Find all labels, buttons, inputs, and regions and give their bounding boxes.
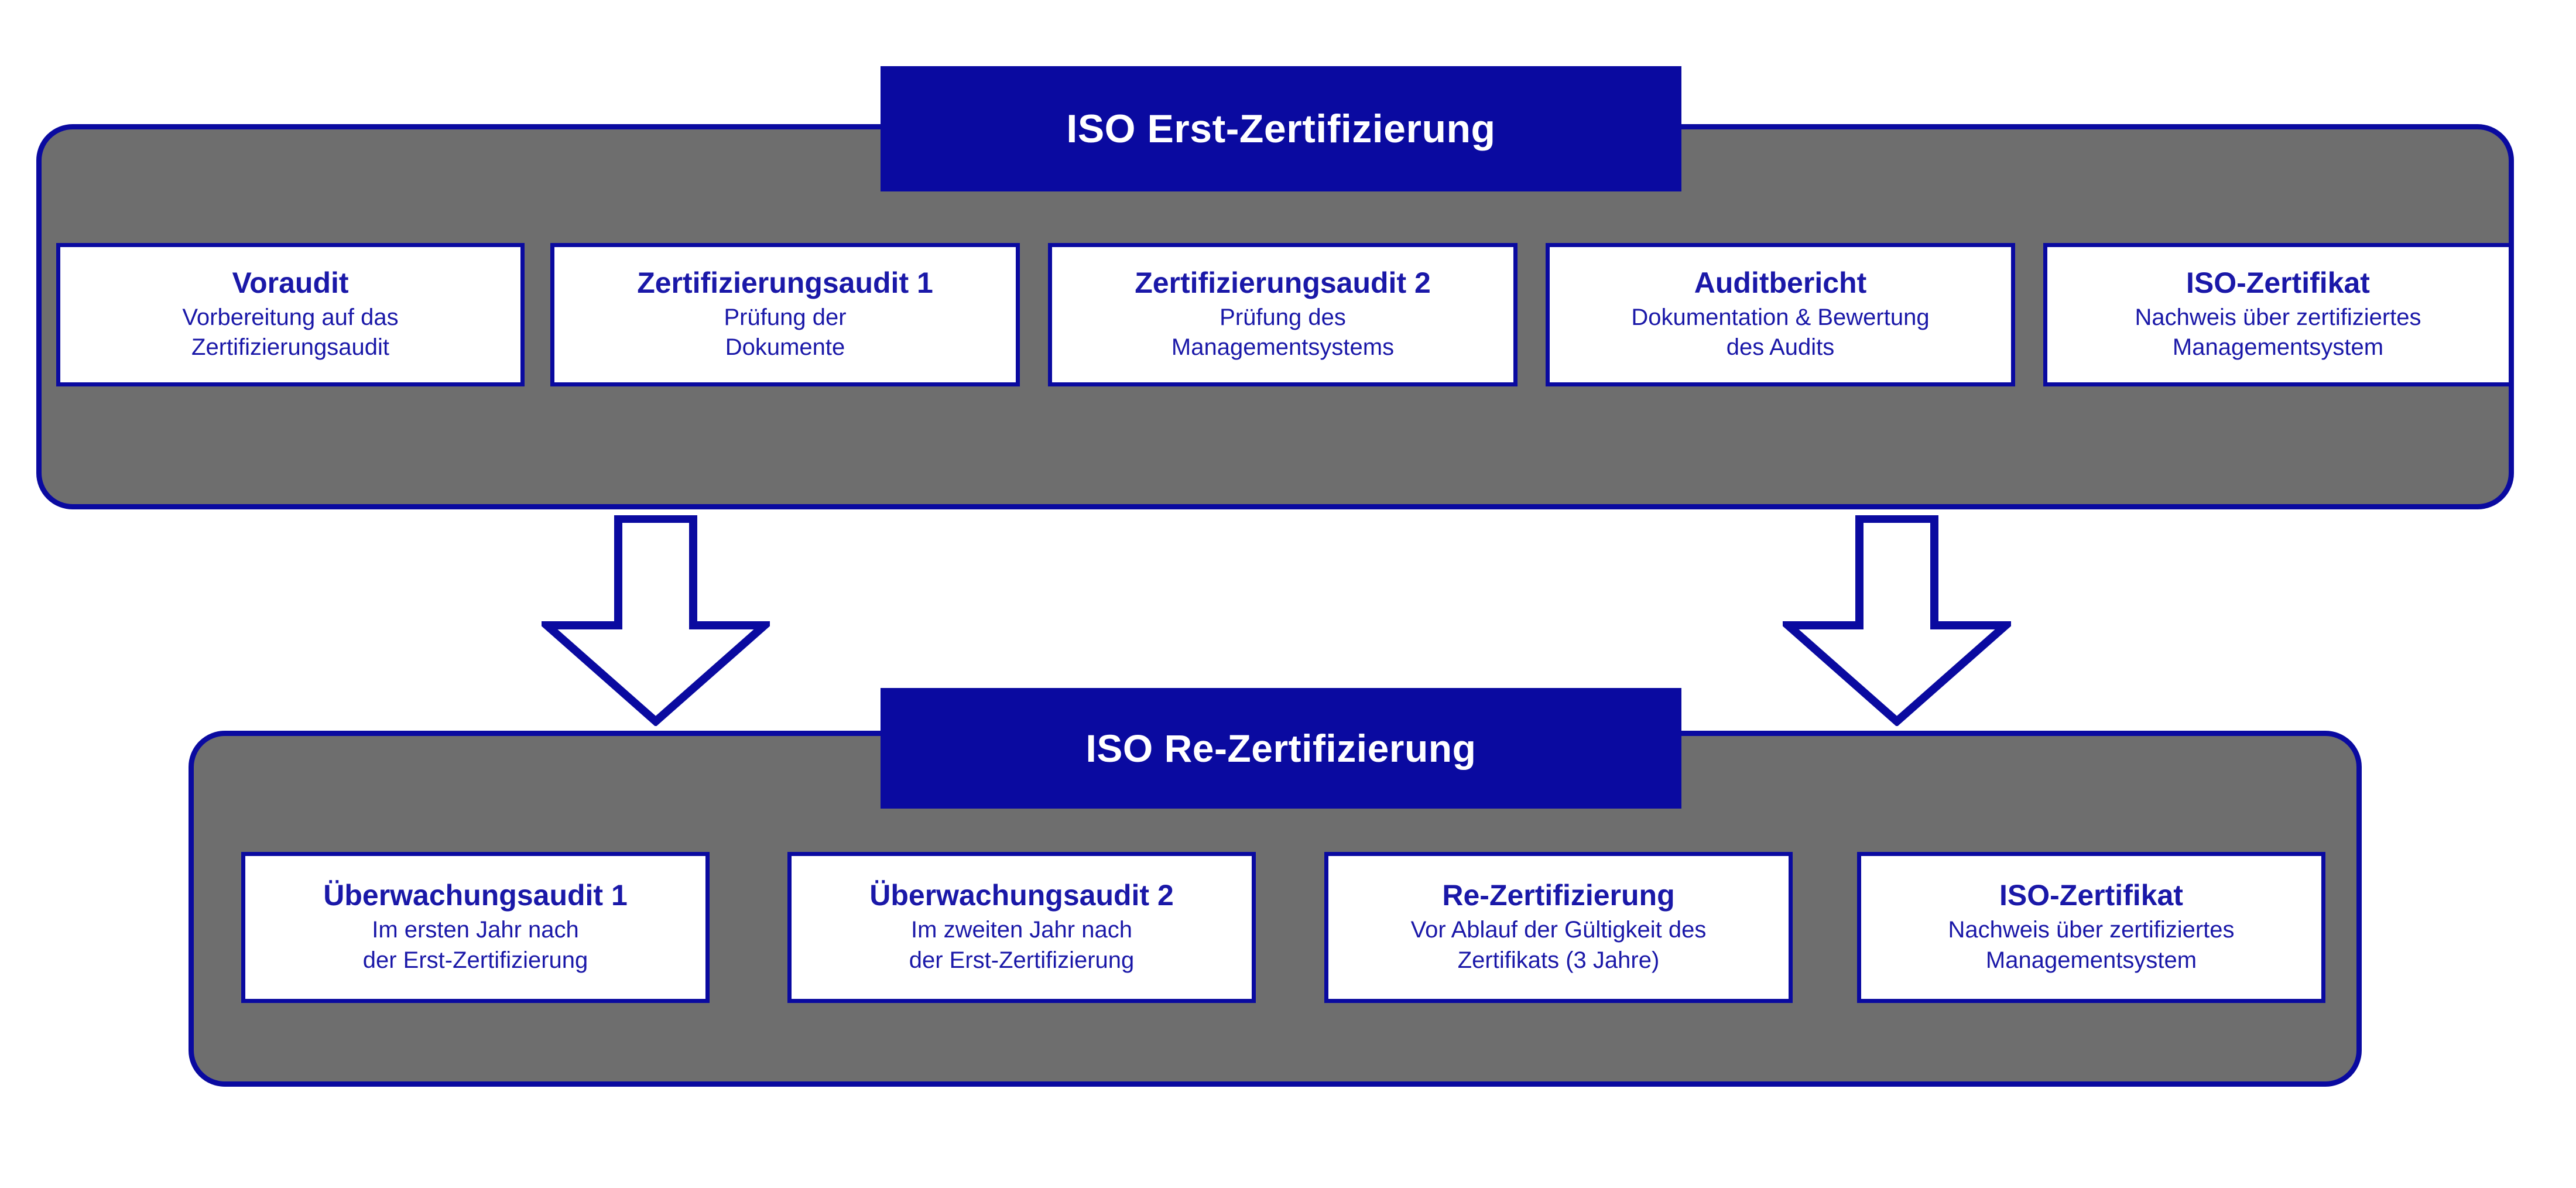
card-ueberwachungsaudit-1: Überwachungsaudit 1 Im ersten Jahr nach … — [241, 852, 710, 1003]
card-re-zertifizierung: Re-Zertifizierung Vor Ablauf der Gültigk… — [1324, 852, 1793, 1003]
card-iso-zertifikat-recert: ISO-Zertifikat Nachweis über zertifizier… — [1857, 852, 2325, 1003]
card-iso-zertifikat-initial-title: ISO-Zertifikat — [2186, 267, 2370, 299]
card-ueberwachungsaudit-1-desc: Im ersten Jahr nach der Erst-Zertifizier… — [363, 915, 588, 975]
card-voraudit-title: Voraudit — [232, 267, 348, 299]
card-iso-zertifikat-initial-desc: Nachweis über zertifiziertes Managements… — [2135, 303, 2421, 362]
initial-certification-banner: ISO Erst-Zertifizierung — [881, 66, 1681, 191]
arrow-down-right-icon — [1783, 515, 2011, 726]
card-voraudit: Voraudit Vorbereitung auf das Zertifizie… — [56, 243, 525, 386]
card-iso-zertifikat-initial: ISO-Zertifikat Nachweis über zertifizier… — [2043, 243, 2513, 386]
card-zertifizierungsaudit-2-desc: Prüfung des Managementsystems — [1171, 303, 1394, 362]
card-ueberwachungsaudit-2-title: Überwachungsaudit 2 — [869, 879, 1174, 911]
arrow-down-left-icon — [542, 515, 770, 726]
card-auditbericht-title: Auditbericht — [1694, 267, 1866, 299]
card-iso-zertifikat-recert-title: ISO-Zertifikat — [1999, 879, 2183, 911]
re-certification-banner: ISO Re-Zertifizierung — [881, 688, 1681, 809]
card-auditbericht-desc: Dokumentation & Bewertung des Audits — [1631, 303, 1929, 362]
diagram-canvas: ISO Erst-Zertifizierung Voraudit Vorbere… — [0, 0, 2576, 1188]
card-auditbericht: Auditbericht Dokumentation & Bewertung d… — [1546, 243, 2015, 386]
card-zertifizierungsaudit-1: Zertifizierungsaudit 1 Prüfung der Dokum… — [550, 243, 1020, 386]
card-voraudit-desc: Vorbereitung auf das Zertifizierungsaudi… — [182, 303, 398, 362]
card-zertifizierungsaudit-2-title: Zertifizierungsaudit 2 — [1135, 267, 1431, 299]
card-zertifizierungsaudit-1-title: Zertifizierungsaudit 1 — [637, 267, 933, 299]
card-ueberwachungsaudit-2: Überwachungsaudit 2 Im zweiten Jahr nach… — [787, 852, 1256, 1003]
card-re-zertifizierung-desc: Vor Ablauf der Gültigkeit des Zertifikat… — [1411, 915, 1707, 975]
card-zertifizierungsaudit-1-desc: Prüfung der Dokumente — [724, 303, 846, 362]
card-re-zertifizierung-title: Re-Zertifizierung — [1442, 879, 1674, 911]
card-iso-zertifikat-recert-desc: Nachweis über zertifiziertes Managements… — [1948, 915, 2234, 975]
card-zertifizierungsaudit-2: Zertifizierungsaudit 2 Prüfung des Manag… — [1048, 243, 1517, 386]
card-ueberwachungsaudit-1-title: Überwachungsaudit 1 — [323, 879, 628, 911]
card-ueberwachungsaudit-2-desc: Im zweiten Jahr nach der Erst-Zertifizie… — [909, 915, 1135, 975]
